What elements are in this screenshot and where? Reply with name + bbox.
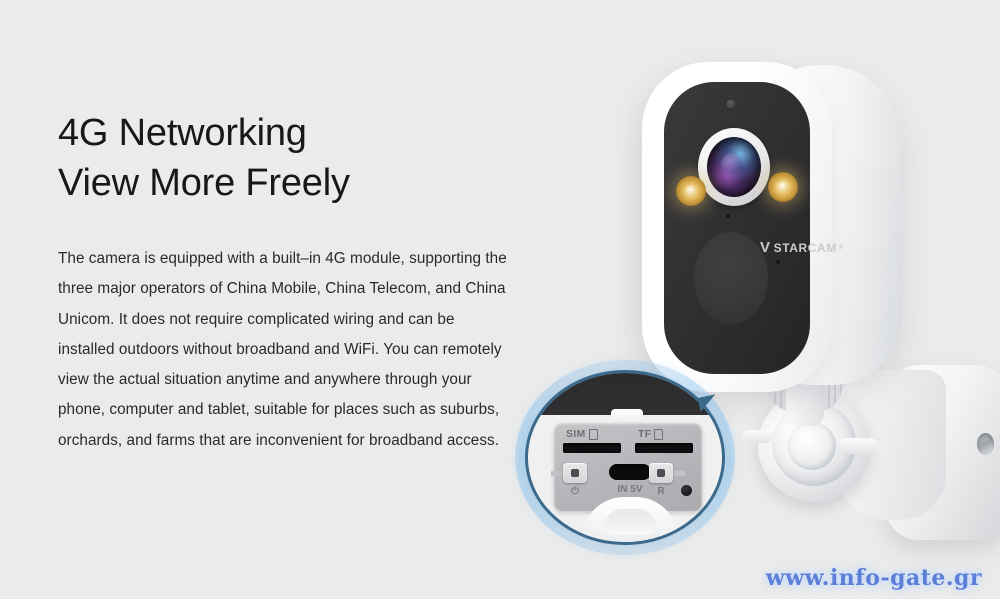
brand-logo: V STARCAM ® <box>760 240 844 255</box>
power-button[interactable] <box>563 463 587 483</box>
power-control: ⏻ <box>563 463 587 497</box>
site-watermark: www.info-gate.gr <box>766 565 982 591</box>
reset-button[interactable] <box>649 463 673 483</box>
tf-slot-label-wrap: TF <box>638 429 693 440</box>
mount-tab-right <box>838 438 878 454</box>
page-title: 4G Networking View More Freely <box>58 108 528 208</box>
power-key-wing <box>551 471 563 476</box>
callout-circle: SIM TF <box>525 370 725 545</box>
card-slot-row: SIM TF <box>563 429 693 453</box>
status-pinhole <box>776 260 780 264</box>
sim-card-icon <box>589 429 598 440</box>
tf-slot-group: TF <box>635 429 693 453</box>
reset-key-wing <box>673 471 685 476</box>
status-led-icon <box>681 485 692 496</box>
camera-faceplate <box>664 82 810 374</box>
ir-led-right <box>768 172 798 202</box>
pir-motion-sensor <box>694 232 768 324</box>
microphone-hole <box>726 214 730 218</box>
tf-slot-label: TF <box>638 429 651 440</box>
camera-lens <box>707 137 761 197</box>
sim-slot-label-wrap: SIM <box>566 429 621 440</box>
ir-led-left <box>676 176 706 206</box>
reset-control: R <box>649 463 673 497</box>
brand-v-mark: V <box>760 240 771 255</box>
sim-slot-label: SIM <box>566 429 586 440</box>
power-caption: ⏻ <box>563 486 587 497</box>
light-sensor-icon <box>727 100 735 108</box>
mount-tab-left <box>742 430 772 443</box>
reset-caption: R <box>649 486 673 497</box>
page-canvas: 4G Networking View More Freely The camer… <box>0 0 1000 599</box>
tf-card-icon <box>654 429 663 440</box>
tf-card-slot <box>635 443 693 453</box>
brand-name-label: STARCAM <box>774 241 837 255</box>
ball-joint-core <box>788 422 836 470</box>
sim-slot-group: SIM <box>563 429 621 453</box>
brand-trademark-icon: ® <box>839 245 844 251</box>
sim-card-slot <box>563 443 621 453</box>
usb-c-port <box>609 464 651 480</box>
marketing-copy-block: 4G Networking View More Freely The camer… <box>58 108 528 456</box>
port-detail-callout: SIM TF <box>525 370 725 545</box>
description-paragraph: The camera is equipped with a built–in 4… <box>58 244 510 456</box>
